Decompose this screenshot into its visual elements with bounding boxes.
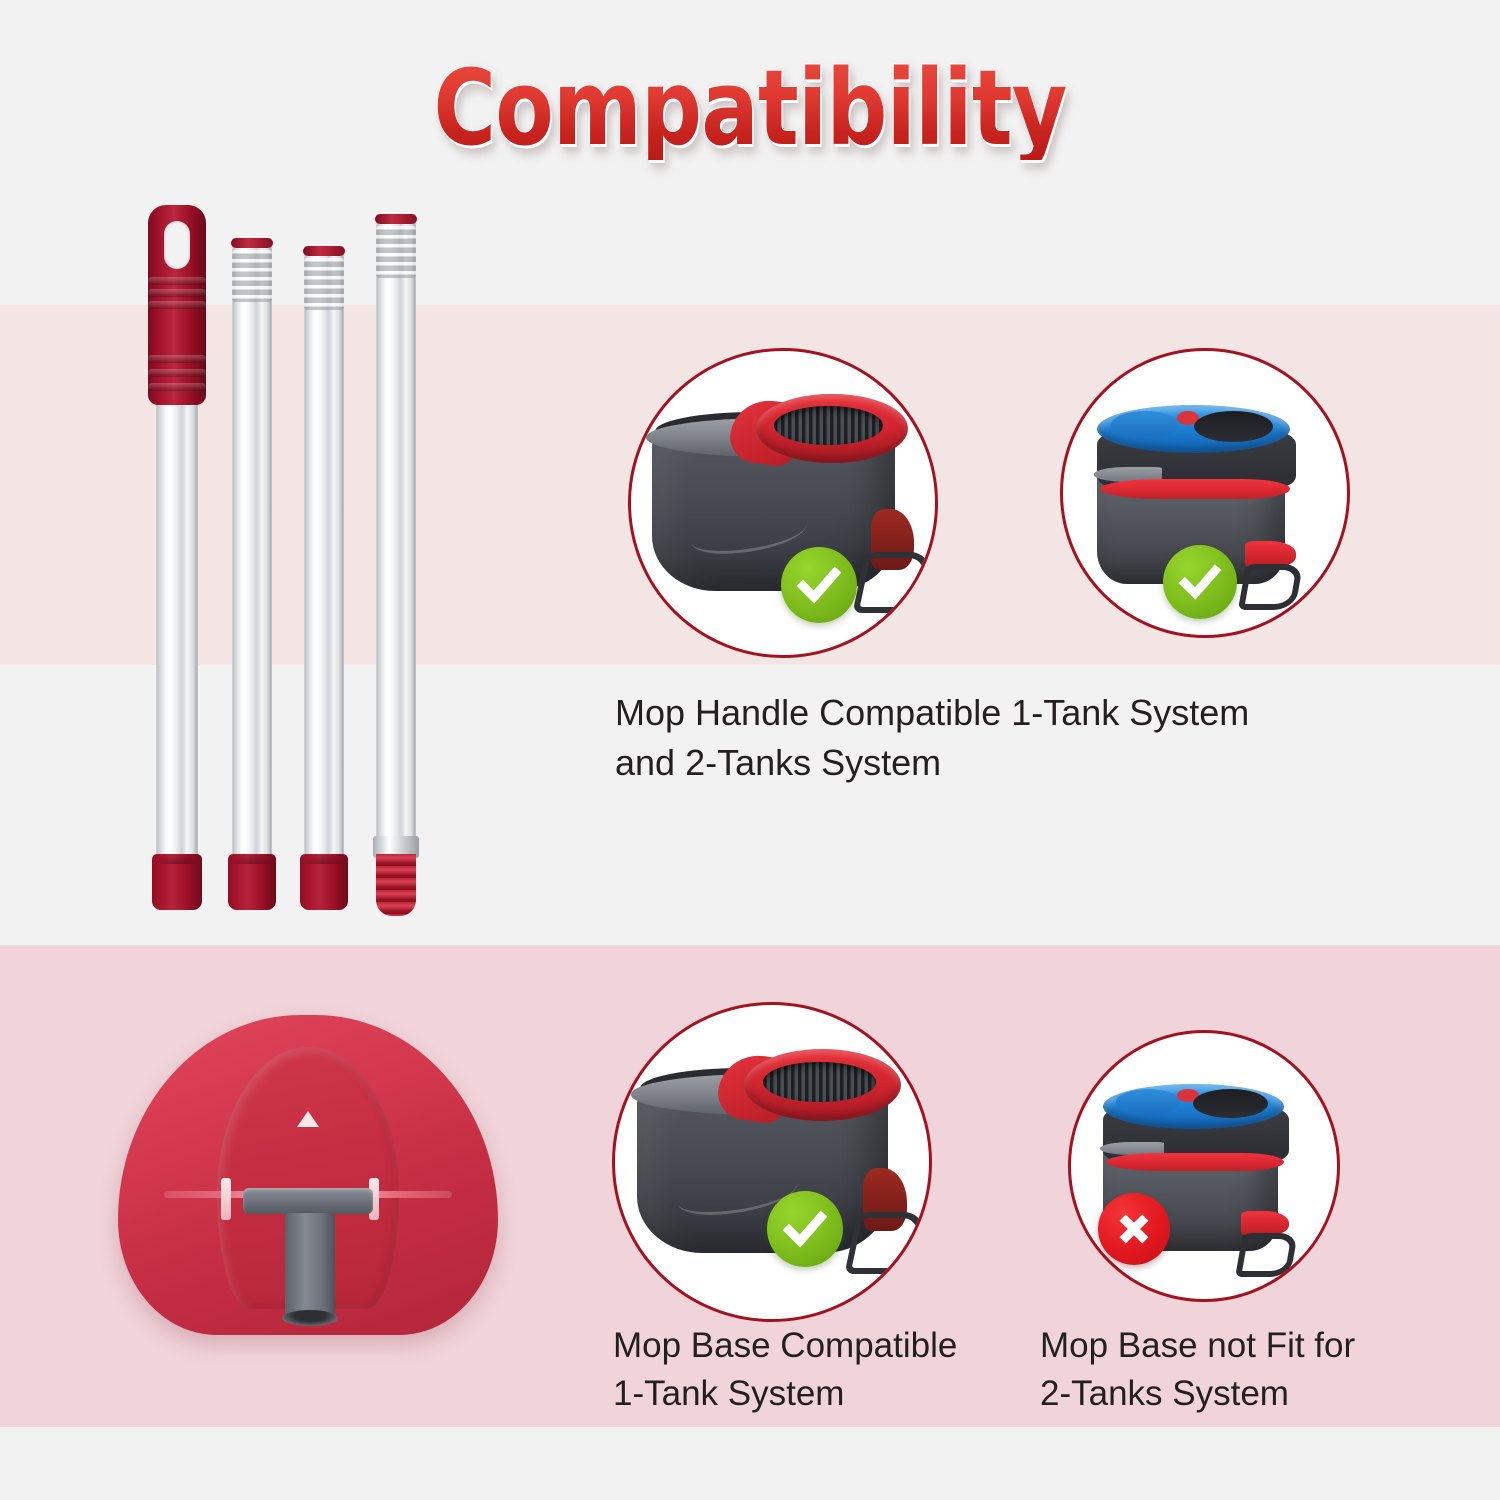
- caption-line-1: Mop Base Compatible: [613, 1322, 993, 1370]
- pole-threaded-screw-tip: [376, 854, 416, 916]
- caption-line-1: Mop Handle Compatible 1-Tank System: [615, 688, 1375, 738]
- grip-ridge: [148, 289, 206, 297]
- base-pivot-hub: [243, 1188, 372, 1214]
- pedal-frame: [1238, 564, 1304, 610]
- background-band-footer: [0, 1427, 1500, 1500]
- one-tank-bucket-photo: [628, 348, 938, 658]
- pole-handle-with-grip: [156, 205, 198, 910]
- grip-ridge: [148, 369, 206, 377]
- pole-top-ribbed: [304, 246, 344, 322]
- compatible-check-badge: [781, 547, 857, 623]
- not-compatible-cross-badge: [1098, 1193, 1170, 1265]
- two-tank-bucket-photo: [1060, 348, 1350, 638]
- foot-pedal: [1241, 1211, 1289, 1235]
- pedal-frame: [844, 1212, 926, 1274]
- check-icon: [781, 1205, 829, 1253]
- caption-line-2: and 2-Tanks System: [615, 738, 1375, 788]
- compatible-check-badge: [1163, 545, 1237, 619]
- bucket-red-handle-band: [1106, 1153, 1284, 1172]
- bucket-highlight: [690, 509, 810, 557]
- pole-extension-1: [232, 238, 272, 910]
- pole-extension-threaded: [376, 214, 416, 910]
- grip-ridge: [148, 355, 206, 363]
- pole-grip: [148, 205, 206, 405]
- foot-pedal: [1245, 541, 1296, 567]
- pole-extension-2: [304, 246, 344, 910]
- pole-top-ribbed: [376, 214, 416, 290]
- base-not-fit-caption: Mop Base not Fit for 2-Tanks System: [1040, 1322, 1420, 1419]
- infographic-canvas: Compatibility: [0, 0, 1500, 1500]
- check-icon: [795, 561, 843, 609]
- photo-clip: [1071, 1033, 1337, 1299]
- lid-wash-section: [1111, 411, 1179, 439]
- compatible-check-badge: [767, 1191, 843, 1267]
- grip-ridge: [148, 277, 206, 285]
- pole-shaft: [156, 385, 198, 860]
- bucket-illustration-one-tank: [615, 1005, 929, 1319]
- mop-base-plate: [118, 1015, 498, 1335]
- pole-top-ring: [231, 238, 273, 248]
- caption-line-2: 2-Tanks System: [1040, 1370, 1420, 1418]
- pole-end-cap: [152, 854, 202, 910]
- direction-arrow-icon: [297, 1111, 319, 1127]
- pole-shaft: [304, 246, 344, 862]
- base-pole-socket: [285, 1213, 334, 1322]
- pole-end-cap: [228, 854, 276, 910]
- base-compatible-caption: Mop Base Compatible 1-Tank System: [613, 1322, 993, 1419]
- pole-top-ring: [375, 214, 417, 224]
- caption-line-1: Mop Base not Fit for: [1040, 1322, 1420, 1370]
- caption-line-2: 1-Tank System: [613, 1370, 993, 1418]
- handle-compatibility-caption: Mop Handle Compatible 1-Tank System and …: [615, 688, 1375, 787]
- lid-opening: [1194, 411, 1274, 442]
- bucket-red-handle-band: [1100, 479, 1290, 499]
- pole-top-ribs: [232, 250, 272, 302]
- check-icon: [1177, 559, 1223, 605]
- spinner-basket: [774, 406, 883, 446]
- two-tank-bucket-photo: [1068, 1030, 1340, 1302]
- pole-top-ribs: [304, 258, 344, 310]
- cross-icon: [1113, 1208, 1155, 1250]
- lid-opening: [1193, 1089, 1267, 1118]
- base-axle-wing: [221, 1178, 231, 1220]
- grip-ridge: [148, 301, 206, 309]
- page-title: Compatibility: [433, 56, 1066, 160]
- one-tank-bucket-photo: [612, 1002, 932, 1322]
- spinner-basket: [763, 1062, 876, 1103]
- grip-hanging-hole: [164, 221, 190, 269]
- bucket-illustration-one-tank: [631, 351, 935, 655]
- grip-ridge: [148, 383, 206, 391]
- pole-top-ring: [303, 246, 345, 256]
- pole-end-cap: [300, 854, 348, 910]
- pole-shaft: [232, 238, 272, 862]
- pedal-frame: [1235, 1233, 1297, 1277]
- bucket-illustration-two-tank: [1071, 1033, 1337, 1299]
- photo-clip: [615, 1005, 929, 1319]
- page-title-wrap: Compatibility: [0, 56, 1500, 160]
- mop-handle-poles: [148, 200, 438, 910]
- pole-top-ribbed: [232, 238, 272, 314]
- pole-top-ribs: [376, 226, 416, 278]
- photo-clip: [631, 351, 935, 655]
- pedal-frame: [853, 552, 933, 613]
- pole-shaft: [376, 214, 416, 854]
